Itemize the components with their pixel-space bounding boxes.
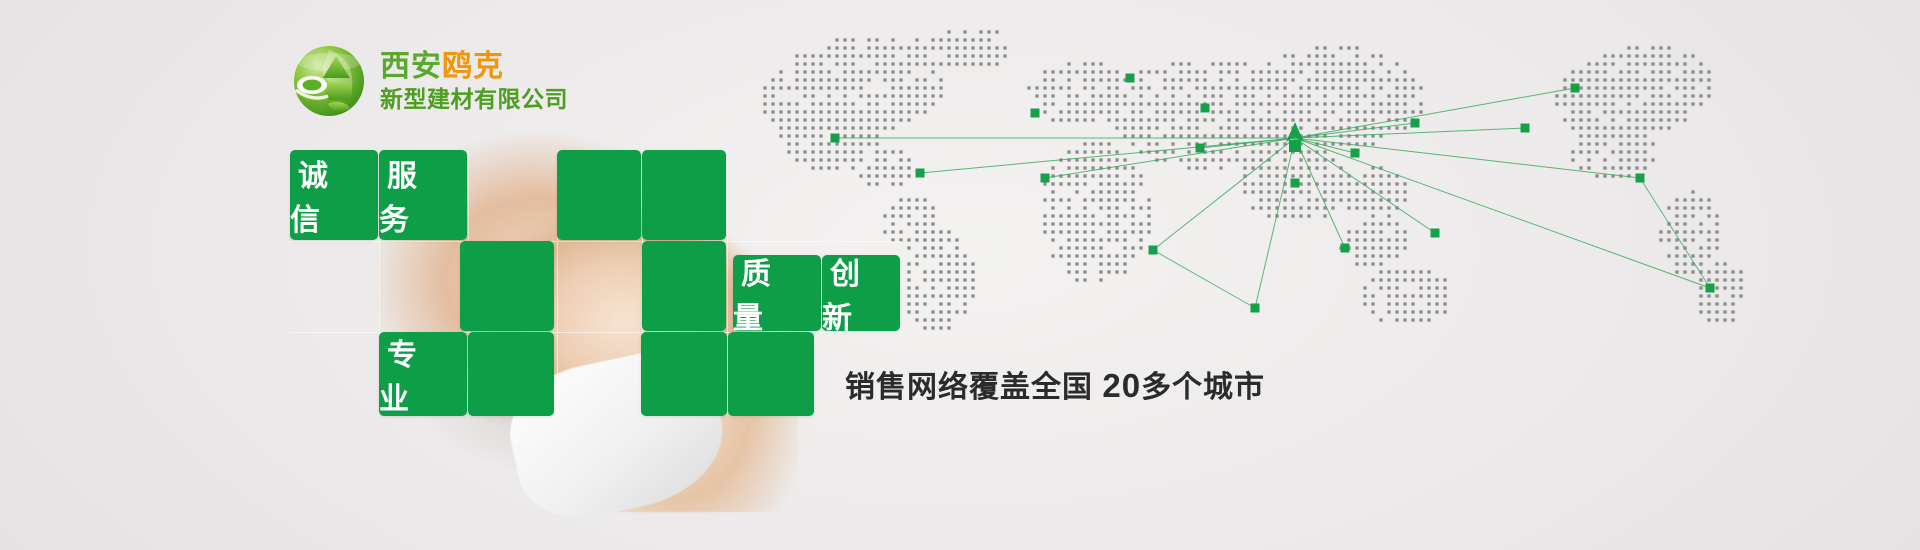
tagline: 销售网络覆盖全国 20多个城市: [845, 362, 1265, 406]
tile-innovation[interactable]: 创 新: [822, 255, 900, 331]
map-node[interactable]: [1636, 174, 1645, 183]
globe-leaf-logo-icon: [292, 44, 366, 118]
tile-blank-7: [641, 332, 727, 416]
world-map-svg: [735, 18, 1895, 358]
tile-service[interactable]: 服 务: [379, 150, 467, 240]
map-node[interactable]: [1411, 119, 1420, 128]
company-logo[interactable]: 西安鸥克 新型建材有限公司: [292, 44, 568, 118]
network-line: [1295, 128, 1525, 138]
map-node[interactable]: [1431, 229, 1440, 238]
network-line: [1153, 138, 1295, 250]
map-node[interactable]: [1351, 149, 1360, 158]
tile-blank-5: [642, 241, 726, 331]
map-node[interactable]: [1201, 104, 1210, 113]
promo-banner: 西安鸥克 新型建材有限公司 诚 信 服 务 质 量 创 新 专 业 销售网络覆盖…: [0, 0, 1920, 550]
network-line: [1295, 88, 1575, 138]
map-node[interactable]: [1126, 74, 1135, 83]
map-node[interactable]: [1571, 84, 1580, 93]
map-node[interactable]: [1521, 124, 1530, 133]
tagline-prefix: 销售网络覆盖全国: [845, 371, 1093, 404]
tile-blank-6: [468, 332, 554, 416]
network-line: [1153, 250, 1255, 308]
map-node[interactable]: [1251, 304, 1260, 313]
network-line: [1255, 138, 1295, 308]
tile-integrity[interactable]: 诚 信: [290, 150, 378, 240]
map-node[interactable]: [1041, 174, 1050, 183]
tile-professional[interactable]: 专 业: [379, 332, 467, 416]
map-node[interactable]: [1031, 109, 1040, 118]
network-line: [1200, 138, 1295, 148]
tile-blank-8: [728, 332, 814, 416]
world-dot-map: [735, 18, 1895, 358]
map-hub-node[interactable]: [1289, 140, 1301, 152]
map-node[interactable]: [1706, 284, 1715, 293]
tile-quality[interactable]: 质 量: [733, 255, 821, 331]
map-node[interactable]: [831, 134, 840, 143]
logo-wordmark: 西安鸥克 新型建材有限公司: [380, 50, 568, 112]
logo-line-1: 西安鸥克: [380, 50, 568, 84]
tagline-number: 20: [1102, 367, 1141, 404]
tagline-suffix: 多个城市: [1141, 371, 1265, 404]
map-node[interactable]: [1341, 244, 1350, 253]
map-node[interactable]: [1196, 144, 1205, 153]
logo-line-2: 新型建材有限公司: [380, 86, 568, 112]
logo-city: 西安: [380, 50, 442, 83]
map-node[interactable]: [916, 169, 925, 178]
tile-blank-3: [642, 150, 726, 240]
tile-blank-2: [557, 150, 641, 240]
map-node[interactable]: [1291, 179, 1300, 188]
tile-blank-4: [460, 241, 554, 331]
logo-brand: 鸥克: [442, 50, 504, 83]
map-node[interactable]: [1149, 246, 1158, 255]
